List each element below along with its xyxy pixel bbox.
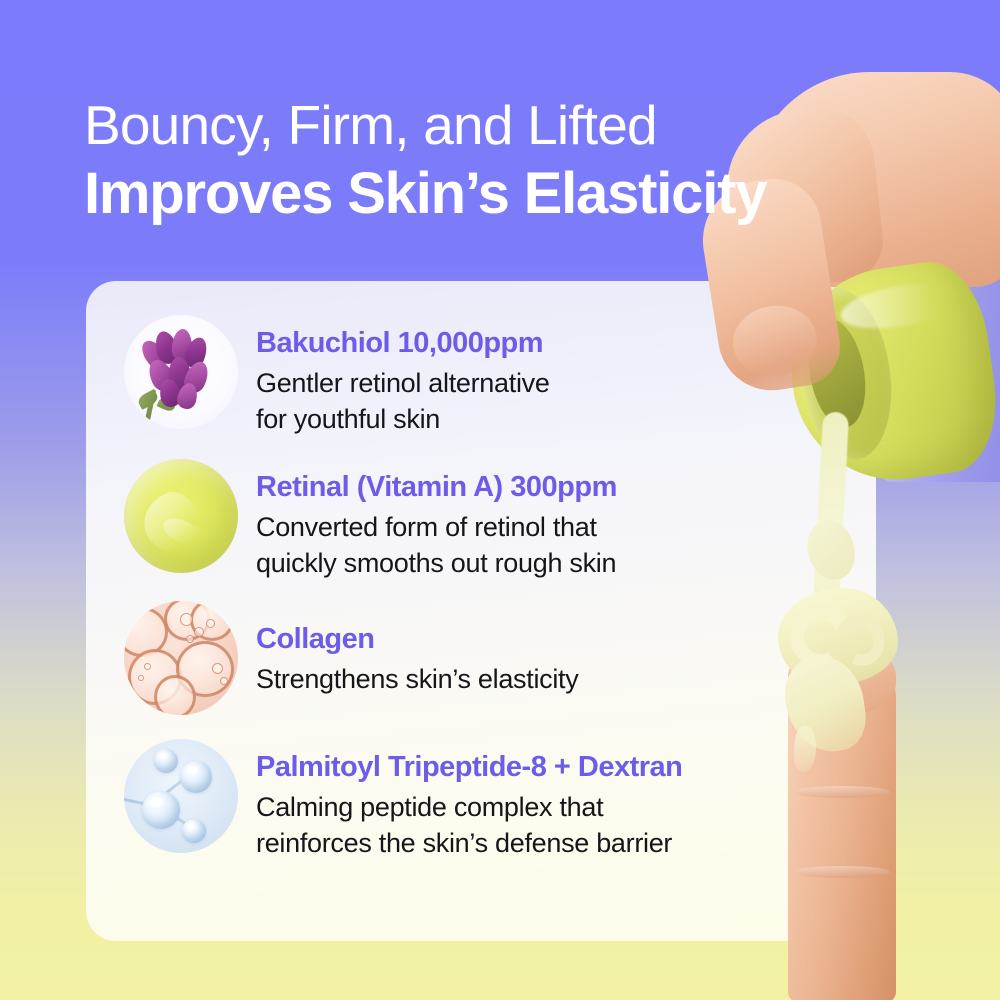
ingredient-title: Collagen xyxy=(256,621,856,657)
hand-knuckle xyxy=(719,103,886,293)
list-item: Collagen Strengthens skin’s elasticity xyxy=(124,599,856,715)
ingredient-text: Bakuchiol 10,000ppm Gentler retinol alte… xyxy=(238,313,856,437)
ingredients-list: Bakuchiol 10,000ppm Gentler retinol alte… xyxy=(86,281,876,881)
ingredients-card: Bakuchiol 10,000ppm Gentler retinol alte… xyxy=(86,281,876,941)
list-item: Retinal (Vitamin A) 300ppm Converted for… xyxy=(124,457,856,581)
ingredient-description: Gentler retinol alternative for youthful… xyxy=(256,365,856,437)
bottle-body xyxy=(878,252,1000,482)
ingredient-title: Palmitoyl Tripeptide-8 + Dextran xyxy=(256,749,856,785)
collagen-bubbles-icon xyxy=(124,601,238,715)
page-title: Bouncy, Firm, and Lifted Improves Skin’s… xyxy=(84,92,924,228)
ingredient-title: Retinal (Vitamin A) 300ppm xyxy=(256,469,856,505)
ingredient-text: Collagen Strengthens skin’s elasticity xyxy=(238,599,856,697)
list-item: Bakuchiol 10,000ppm Gentler retinol alte… xyxy=(124,313,856,437)
ingredient-text: Palmitoyl Tripeptide-8 + Dextran Calming… xyxy=(238,737,856,861)
ingredient-description: Calming peptide complex that reinforces … xyxy=(256,789,856,861)
bakuchiol-flower-icon xyxy=(124,315,238,429)
list-item: Palmitoyl Tripeptide-8 + Dextran Calming… xyxy=(124,737,856,861)
retinal-cream-swatch-icon xyxy=(124,459,238,573)
peptide-molecule-icon xyxy=(124,739,238,853)
ingredient-description: Strengthens skin’s elasticity xyxy=(256,661,856,697)
ingredient-description: Converted form of retinol that quickly s… xyxy=(256,509,856,581)
headline-line-2: Improves Skin’s Elasticity xyxy=(84,160,924,228)
ingredient-text: Retinal (Vitamin A) 300ppm Converted for… xyxy=(238,457,856,581)
ingredient-title: Bakuchiol 10,000ppm xyxy=(256,325,856,361)
hand-back xyxy=(750,72,1000,287)
headline-line-1: Bouncy, Firm, and Lifted xyxy=(84,92,924,158)
promo-canvas: Bouncy, Firm, and Lifted Improves Skin’s… xyxy=(0,0,1000,1000)
